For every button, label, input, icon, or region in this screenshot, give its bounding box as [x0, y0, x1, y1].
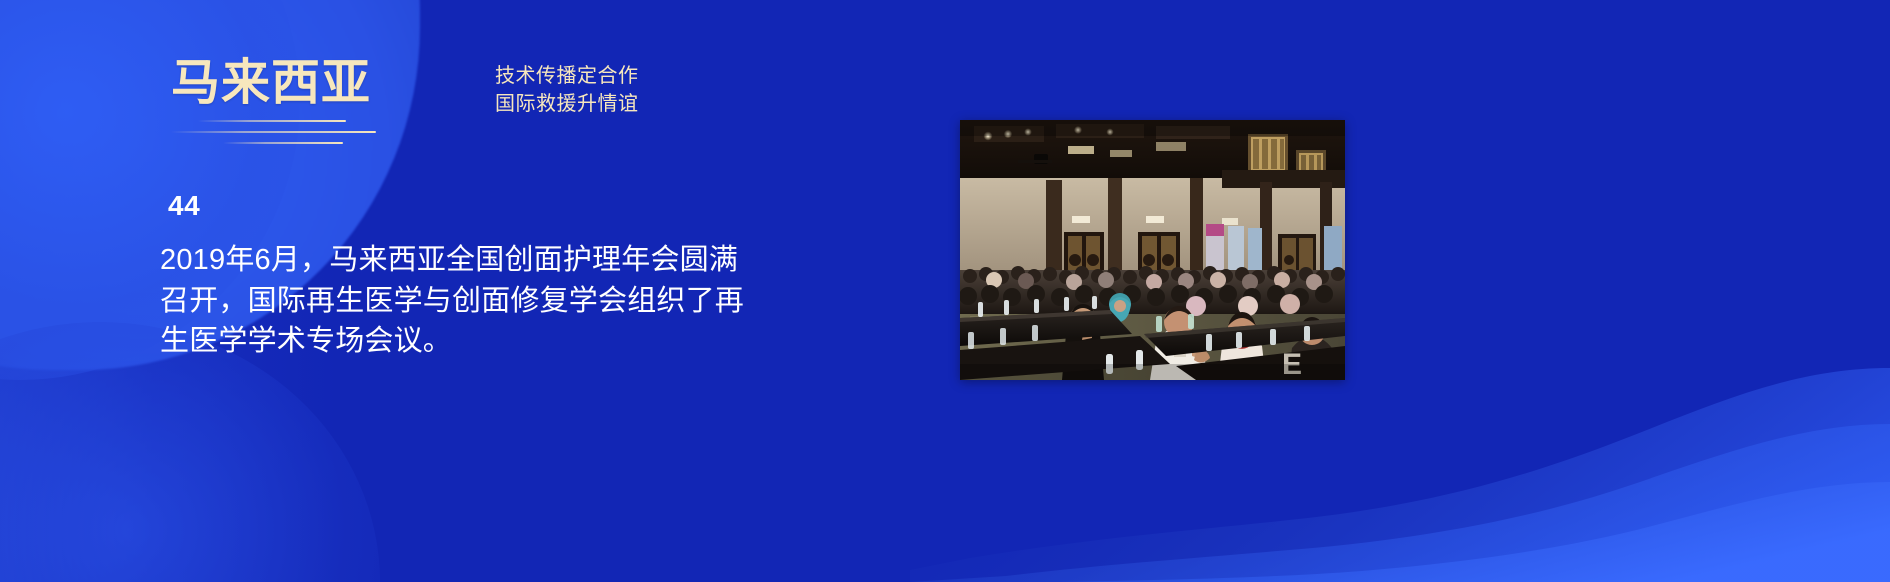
title-rule-2	[171, 131, 376, 133]
title-rule-3	[223, 142, 343, 144]
conference-photo-illustration: E	[960, 120, 1345, 380]
body-line-3: 生医学学术专场会议。	[160, 321, 820, 362]
title-block: 马来西亚	[171, 58, 371, 150]
subtitle-block: 技术传播定合作 国际救援升情谊	[495, 62, 639, 119]
body-line-1: 2019年6月，马来西亚全国创面护理年会圆满	[160, 240, 820, 281]
subtitle-line-2: 国际救援升情谊	[495, 90, 639, 118]
subtitle-line-1: 技术传播定合作	[495, 62, 639, 90]
item-number: 44	[168, 192, 200, 220]
body-paragraph: 2019年6月，马来西亚全国创面护理年会圆满 召开，国际再生医学与创面修复学会组…	[160, 240, 820, 362]
page-title: 马来西亚	[171, 58, 371, 109]
title-rule-1	[198, 120, 346, 122]
body-line-2: 召开，国际再生医学与创面修复学会组织了再	[160, 281, 820, 322]
presentation-slide: 马来西亚 技术传播定合作 国际救援升情谊 44 2019年6月，马来西亚全国创面…	[0, 0, 1890, 582]
title-underline-decoration	[171, 120, 371, 150]
conference-photo: E	[960, 120, 1345, 380]
